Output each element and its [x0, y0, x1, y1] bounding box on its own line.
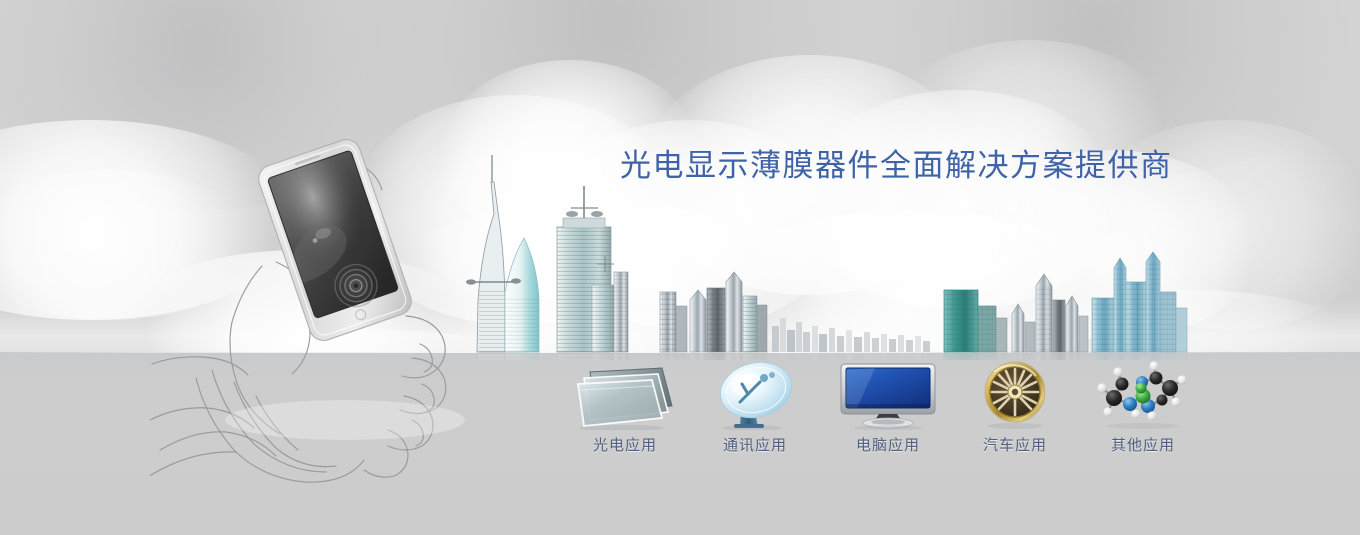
spire-cluster: [1012, 274, 1088, 352]
monitor-icon: [823, 358, 953, 430]
app-label-automotive: 汽车应用: [950, 434, 1080, 455]
smartphone: [255, 136, 415, 344]
glass-film-panels-icon: [560, 358, 690, 430]
molecule-atoms: [1097, 361, 1186, 420]
app-item-other[interactable]: 其他应用: [1078, 358, 1208, 455]
hand-holding-phone-illustration: [150, 120, 480, 490]
dish-reflector: [715, 358, 798, 425]
car-wheel-icon: [950, 358, 1080, 430]
app-label-communication: 通讯应用: [690, 434, 820, 455]
panel-stack: [578, 368, 672, 426]
monitor-body: [841, 364, 935, 414]
app-item-computer[interactable]: 电脑应用: [823, 358, 953, 455]
application-icon-row: 光电应用: [560, 358, 1210, 468]
page-title: 光电显示薄膜器件全面解决方案提供商: [620, 140, 1173, 185]
silver-cluster: [660, 272, 767, 352]
teal-towers: [944, 290, 1007, 352]
app-label-other: 其他应用: [1078, 434, 1208, 455]
distant-blocks: [772, 318, 930, 352]
blue-glass-towers: [1092, 252, 1187, 352]
app-item-communication[interactable]: 通讯应用: [690, 358, 820, 455]
satellite-dish-icon: [690, 358, 820, 430]
app-item-optoelectronic[interactable]: 光电应用: [560, 358, 690, 455]
app-label-optoelectronic: 光电应用: [560, 434, 690, 455]
hero-banner: 光电显示薄膜器件全面解决方案提供商: [0, 0, 1360, 535]
wheel: [985, 362, 1045, 422]
app-label-computer: 电脑应用: [823, 434, 953, 455]
app-item-automotive[interactable]: 汽车应用: [950, 358, 1080, 455]
molecule-icon: [1078, 358, 1208, 430]
